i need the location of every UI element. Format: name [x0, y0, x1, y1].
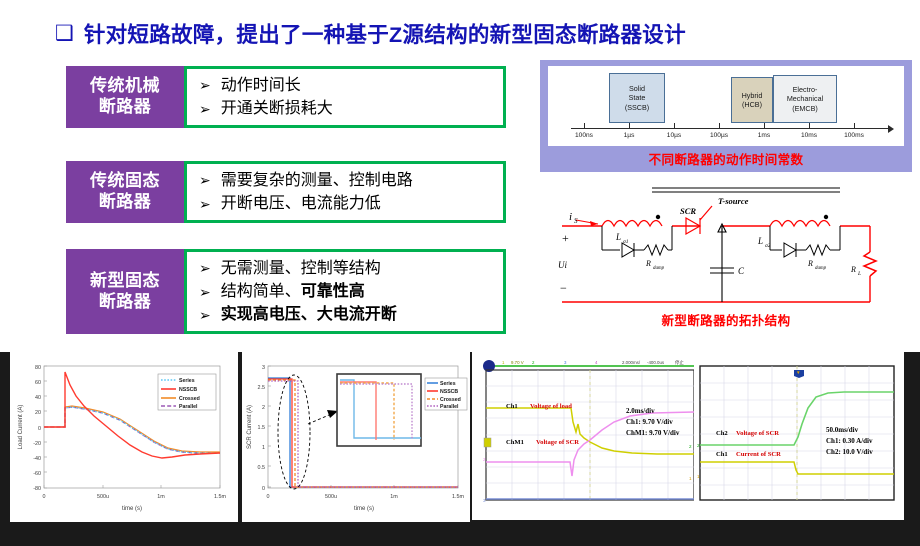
bullet-text: 实现高电压、大电流开断: [221, 303, 397, 326]
time-constants-figure: Solid State (SSCB) Hybrid (HCB) Electro-…: [540, 60, 912, 172]
svg-text:Parallel: Parallel: [179, 404, 198, 410]
bullet-text: 动作时间长: [221, 74, 301, 97]
svg-text:−: −: [560, 281, 567, 295]
svg-text:0: 0: [38, 426, 41, 432]
svg-text:2: 2: [483, 457, 486, 462]
svg-text:Voltage of load: Voltage of load: [530, 403, 572, 410]
svg-text:Ch1: Ch1: [716, 451, 728, 458]
row-panel-traditional-solid: ➢ 需要复杂的测量、控制电路 ➢ 开断电压、电流能力低: [184, 161, 506, 223]
svg-text:Voltage of SCR: Voltage of SCR: [736, 430, 779, 437]
axis-tick: [719, 123, 720, 129]
time-constants-caption: 不同断路器的动作时间常数: [548, 149, 904, 168]
bullet-item: ➢ 实现高电压、大电流开断: [199, 303, 495, 326]
load-current-chart: 80 60 40 20 0 -20 -40 -60 -80: [10, 352, 238, 522]
svg-text:+: +: [562, 231, 569, 245]
bottom-figure-strip: 80 60 40 20 0 -20 -40 -60 -80: [0, 352, 920, 546]
block-line2: Mechanical: [787, 94, 823, 103]
svg-text:停止: 停止: [675, 359, 684, 366]
time-axis-arrow-icon: [888, 125, 894, 133]
svg-text:Parallel: Parallel: [440, 404, 459, 410]
bullet-text: 结构简单、: [221, 280, 301, 303]
svg-text:0: 0: [43, 494, 46, 500]
axis-tick: [584, 123, 585, 129]
row-tag-new-solid: 新型固态 断路器: [66, 249, 184, 334]
svg-text:1m: 1m: [390, 494, 398, 500]
svg-text:1.5: 1.5: [258, 425, 266, 431]
bullet-text: 开断电压、电流能力低: [221, 192, 381, 215]
arrow-icon: ➢: [199, 261, 211, 275]
svg-text:80: 80: [35, 365, 41, 371]
svg-text:R: R: [645, 259, 651, 268]
solid-state-block: Solid State (SSCB): [609, 73, 665, 123]
arrow-icon: ➢: [199, 173, 211, 187]
scope-right: ▼ 2 1 Ch2 Voltage of SCR Ch1 Current of …: [694, 352, 904, 520]
svg-text:2: 2: [262, 405, 265, 411]
svg-text:NSSCB: NSSCB: [440, 389, 458, 395]
bullet-text: 需要复杂的测量、控制电路: [221, 169, 413, 192]
svg-text:500u: 500u: [325, 494, 337, 500]
svg-text:Series: Series: [440, 381, 456, 387]
row-tag-traditional-solid: 传统固态 断路器: [66, 161, 184, 223]
arrow-icon: ➢: [199, 102, 211, 116]
svg-text:2: 2: [697, 443, 700, 448]
topology-figure: i S + − Ui L σ1 L σ2 R damp R damp C R L…: [540, 180, 912, 340]
svg-text:0: 0: [262, 486, 265, 492]
svg-text:Ch1: 0.30 A/div: Ch1: 0.30 A/div: [826, 437, 873, 445]
arrow-icon: ➢: [199, 197, 211, 211]
row-tag-line2: 断路器: [99, 192, 152, 213]
row-panel-new-solid: ➢ 无需测量、控制等结构 ➢ 结构简单、可靠性高 ➢ 实现高电压、大电流开断: [184, 249, 506, 334]
svg-text:20: 20: [35, 410, 41, 416]
svg-text:L: L: [757, 236, 763, 246]
time-axis-line: [571, 128, 889, 129]
bullet-item: ➢ 需要复杂的测量、控制电路: [199, 169, 495, 192]
svg-text:Crossed: Crossed: [440, 397, 461, 403]
svg-text:T-source: T-source: [718, 196, 749, 206]
svg-text:ChM1: 9.70 V/div: ChM1: 9.70 V/div: [626, 429, 680, 437]
scope-left: 1 9.70 V 2 3 4 2.000ms/ -400.0us 停止: [472, 352, 698, 520]
arrow-icon: ➢: [199, 285, 211, 299]
svg-text:Voltage of SCR: Voltage of SCR: [536, 439, 579, 446]
bullet-item: ➢ 开通关断损耗大: [199, 97, 495, 120]
svg-text:1m: 1m: [157, 494, 165, 500]
svg-text:S: S: [574, 217, 578, 225]
svg-text:Load Current (A): Load Current (A): [18, 405, 24, 450]
block-line1: Solid: [629, 84, 645, 93]
svg-text:2: 2: [689, 444, 692, 449]
arrow-icon: ➢: [199, 308, 211, 322]
svg-text:2.0ms/div: 2.0ms/div: [626, 407, 655, 415]
bullet-item: ➢ 无需测量、控制等结构: [199, 257, 495, 280]
block-line1: Hybrid: [742, 91, 763, 100]
svg-text:2.000ms/: 2.000ms/: [622, 360, 641, 365]
scr-current-chart: 3 2.5 2 1.5 1 0.5 0 0: [242, 352, 470, 522]
time-constants-plot: Solid State (SSCB) Hybrid (HCB) Electro-…: [548, 66, 904, 146]
row-tag-line1: 新型固态: [90, 271, 160, 292]
svg-text:-400.0us: -400.0us: [647, 360, 665, 365]
row-panel-mechanical: ➢ 动作时间长 ➢ 开通关断损耗大: [184, 66, 506, 128]
svg-text:Current of SCR: Current of SCR: [736, 451, 781, 458]
axis-tick-label: 100µs: [710, 132, 728, 139]
axis-tick: [629, 123, 630, 129]
row-tag-line1: 传统固态: [90, 171, 160, 192]
axis-tick: [674, 123, 675, 129]
hybrid-block: Hybrid (HCB): [731, 77, 773, 123]
svg-text:-20: -20: [33, 441, 41, 447]
svg-text:2.5: 2.5: [258, 385, 266, 391]
svg-text:Ui: Ui: [558, 260, 567, 270]
svg-text:▼: ▼: [796, 370, 801, 375]
row-tag-line2: 断路器: [99, 292, 152, 313]
svg-text:500u: 500u: [97, 494, 109, 500]
bullet-text: 无需测量、控制等结构: [221, 257, 381, 280]
bullet-item: ➢ 开断电压、电流能力低: [199, 192, 495, 215]
svg-text:damp: damp: [815, 266, 827, 271]
svg-text:σ1: σ1: [623, 239, 629, 245]
block-line2: State: [629, 93, 646, 102]
svg-text:1: 1: [697, 474, 700, 479]
bullet-text-emphasis: 可靠性高: [301, 280, 365, 303]
svg-text:1.5m: 1.5m: [214, 494, 226, 500]
svg-text:0: 0: [267, 494, 270, 500]
svg-text:damp: damp: [653, 266, 665, 271]
svg-text:R: R: [807, 259, 813, 268]
title-bullet-icon: ❑: [55, 23, 74, 44]
svg-text:0.5: 0.5: [258, 465, 266, 471]
block-line3: (SSCB): [625, 103, 649, 112]
bullet-item: ➢ 动作时间长: [199, 74, 495, 97]
title-text: 针对短路故障，提出了一种基于Z源结构的新型固态断路器设计: [84, 18, 686, 49]
arrow-icon: ➢: [199, 78, 211, 92]
svg-text:L: L: [857, 271, 861, 277]
svg-text:40: 40: [35, 395, 41, 401]
svg-text:3: 3: [483, 498, 486, 503]
svg-text:time (s): time (s): [354, 506, 374, 512]
svg-text:NSSCB: NSSCB: [179, 387, 197, 393]
comparison-row-traditional-solid: 传统固态 断路器 ➢ 需要复杂的测量、控制电路 ➢ 开断电压、电流能力低: [66, 161, 506, 223]
svg-text:1: 1: [689, 476, 692, 481]
topology-caption: 新型断路器的拓扑结构: [540, 310, 912, 329]
axis-tick-label: 10ms: [801, 132, 817, 139]
svg-text:time (s): time (s): [122, 506, 142, 512]
axis-tick: [764, 123, 765, 129]
axis-tick: [854, 123, 855, 129]
block-line2: (HCB): [742, 100, 762, 109]
row-tag-line2: 断路器: [99, 97, 152, 118]
svg-text:Ch1: 9.70 V/div: Ch1: 9.70 V/div: [626, 418, 673, 426]
comparison-row-mechanical: 传统机械 断路器 ➢ 动作时间长 ➢ 开通关断损耗大: [66, 66, 506, 128]
svg-text:Series: Series: [179, 378, 195, 384]
svg-text:σ2: σ2: [765, 243, 771, 249]
svg-text:50.0ms/div: 50.0ms/div: [826, 426, 859, 434]
svg-text:-40: -40: [33, 456, 41, 462]
svg-text:i: i: [569, 211, 572, 223]
axis-tick: [809, 123, 810, 129]
block-line3: (EMCB): [792, 104, 818, 113]
svg-text:60: 60: [35, 380, 41, 386]
svg-text:C: C: [738, 266, 745, 276]
svg-text:-60: -60: [33, 471, 41, 477]
slide-title: ❑ 针对短路故障，提出了一种基于Z源结构的新型固态断路器设计: [55, 16, 885, 50]
axis-tick-label: 1µs: [624, 132, 635, 139]
electro-mechanical-block: Electro- Mechanical (EMCB): [773, 75, 837, 123]
svg-text:Ch1: Ch1: [506, 403, 518, 410]
svg-text:R: R: [850, 265, 856, 274]
axis-tick-label: 100ms: [844, 132, 864, 139]
svg-text:Ch2: 10.0 V/div: Ch2: 10.0 V/div: [826, 448, 873, 456]
svg-text:SCR Current (A): SCR Current (A): [247, 405, 253, 449]
row-tag-mechanical: 传统机械 断路器: [66, 66, 184, 128]
comparison-row-new-solid: 新型固态 断路器 ➢ 无需测量、控制等结构 ➢ 结构简单、可靠性高 ➢ 实现高电…: [66, 249, 506, 334]
svg-text:9.70 V: 9.70 V: [511, 360, 524, 365]
svg-text:SCR: SCR: [680, 206, 696, 216]
svg-text:L: L: [615, 232, 621, 242]
svg-text:Ch2: Ch2: [716, 430, 728, 437]
bullet-text: 开通关断损耗大: [221, 97, 333, 120]
svg-text:ChM1: ChM1: [506, 439, 524, 446]
svg-text:1: 1: [262, 445, 265, 451]
svg-text:-80: -80: [33, 486, 41, 492]
axis-tick-label: 10µs: [667, 132, 681, 139]
block-line1: Electro-: [793, 85, 818, 94]
slide-canvas: ❑ 针对短路故障，提出了一种基于Z源结构的新型固态断路器设计 传统机械 断路器 …: [0, 0, 920, 546]
row-tag-line1: 传统机械: [90, 76, 160, 97]
svg-text:Crossed: Crossed: [179, 396, 200, 402]
axis-tick-label: 1ms: [758, 132, 770, 139]
bullet-item: ➢ 结构简单、可靠性高: [199, 280, 495, 303]
axis-tick-label: 100ns: [575, 132, 593, 139]
svg-text:1.5m: 1.5m: [452, 494, 464, 500]
svg-text:3: 3: [262, 365, 265, 371]
